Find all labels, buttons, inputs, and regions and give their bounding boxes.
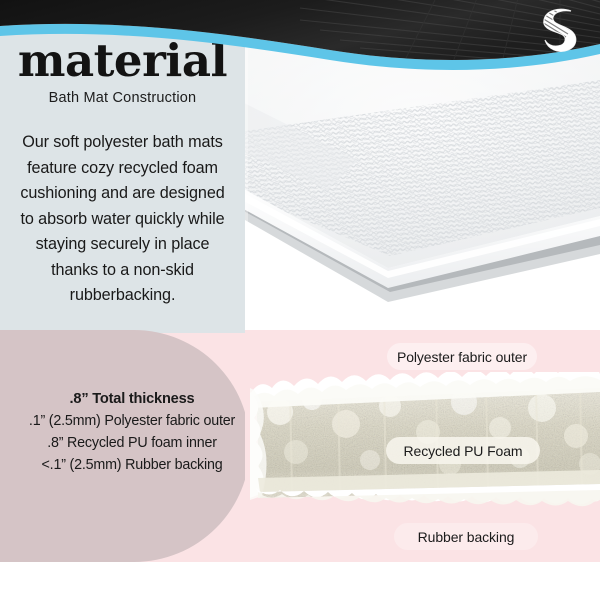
callout-polyester-fabric-outer: Polyester fabric outer [387,343,537,370]
header-wave-banner [0,0,600,120]
brand-logo-icon [530,4,586,56]
spec-line-outer: .1” (2.5mm) Polyester fabric outer [6,410,258,432]
callout-label: Rubber backing [418,529,515,545]
specs-list: .8” Total thickness .1” (2.5mm) Polyeste… [6,388,258,476]
callout-label: Recycled PU Foam [404,443,523,459]
spec-line-backing: <.1” (2.5mm) Rubber backing [6,454,258,476]
infographic-page: material Bath Mat Construction Our soft … [0,0,600,600]
callout-label: Polyester fabric outer [397,349,527,365]
callout-rubber-backing: Rubber backing [394,523,538,550]
body-paragraph: Our soft polyester bath mats feature coz… [13,130,232,309]
callout-recycled-pu-foam: Recycled PU Foam [386,437,540,464]
spec-heading: .8” Total thickness [6,388,258,410]
spec-line-foam: .8” Recycled PU foam inner [6,432,258,454]
